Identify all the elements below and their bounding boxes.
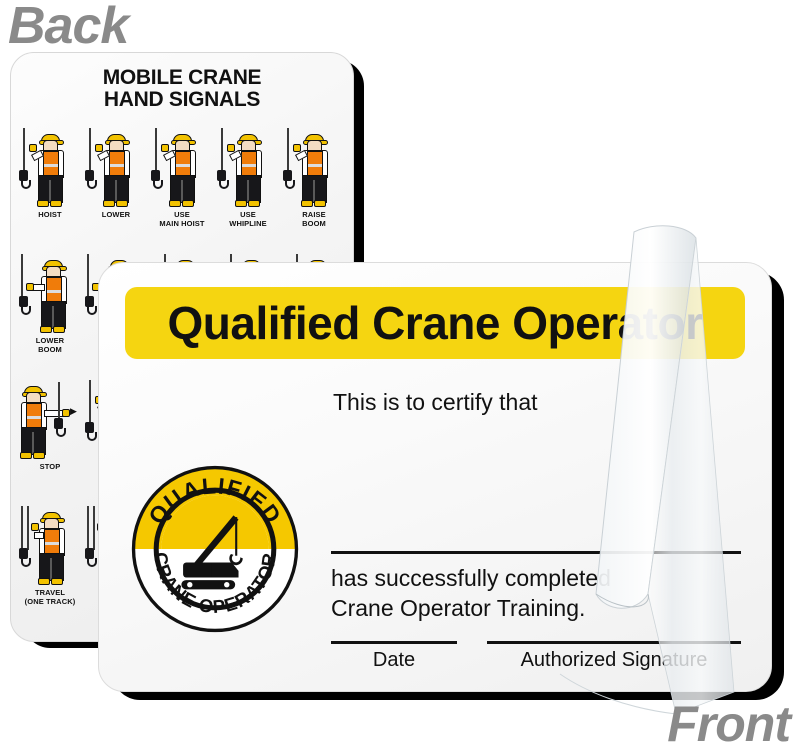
front-side-label: Front [667,695,790,753]
hand-signal-caption: LOWERBOOM [36,337,64,355]
hand-signal-cell: USEMAIN HOIST [149,118,215,242]
front-card-banner: Qualified Crane Operator [125,287,745,359]
hand-signal-figure-icon [18,244,82,336]
certify-text: This is to certify that [99,389,771,416]
completed-line-1: has successfully completed [331,563,611,593]
front-banner-title: Qualified Crane Operator [167,296,702,350]
hand-signal-cell: HOIST [17,118,83,242]
hand-signal-caption: RAISEBOOM [302,211,326,229]
completed-text: has successfully completed Crane Operato… [331,563,611,624]
hand-signal-caption: STOP [40,463,61,472]
date-caption: Date [331,649,457,672]
hand-signal-figure-icon [216,118,280,210]
hand-signal-cell: USEWHIPLINE [215,118,281,242]
hand-signal-caption: USEMAIN HOIST [159,211,204,229]
qualified-crane-operator-badge: QUALIFIED CRANE OPERATOR [131,465,299,633]
hand-signal-cell: ▶STOP [17,370,83,494]
hand-signal-cell: RAISEBOOM [281,118,347,242]
hand-signal-caption: TRAVEL(ONE TRACK) [25,589,76,607]
authorized-signature-rule [487,641,741,644]
hand-signal-caption: HOIST [38,211,61,220]
date-rule [331,641,457,644]
hand-signal-figure-icon [84,118,148,210]
name-signature-rule [331,551,741,554]
back-side-label: Back [8,0,128,56]
authorized-signature-caption: Authorized Signature [487,649,741,672]
hand-signal-cell: TRAVEL(ONE TRACK) [17,496,83,620]
front-card: Qualified Crane Operator This is to cert… [98,262,772,692]
hand-signal-figure-icon: ▶ [18,370,82,462]
hand-signal-figure-icon [282,118,346,210]
hand-signal-cell: LOWERBOOM [17,244,83,368]
completed-line-2: Crane Operator Training. [331,593,611,623]
hand-signal-figure-icon [18,118,82,210]
hand-signal-caption: USEWHIPLINE [229,211,266,229]
back-card-title: MOBILE CRANE HAND SIGNALS [11,67,353,112]
hand-signal-caption: LOWER [102,211,130,220]
back-title-line-1: MOBILE CRANE [11,67,353,89]
hand-signal-cell: LOWER [83,118,149,242]
hand-signal-figure-icon [150,118,214,210]
hand-signal-figure-icon [18,496,82,588]
back-title-line-2: HAND SIGNALS [11,89,353,111]
